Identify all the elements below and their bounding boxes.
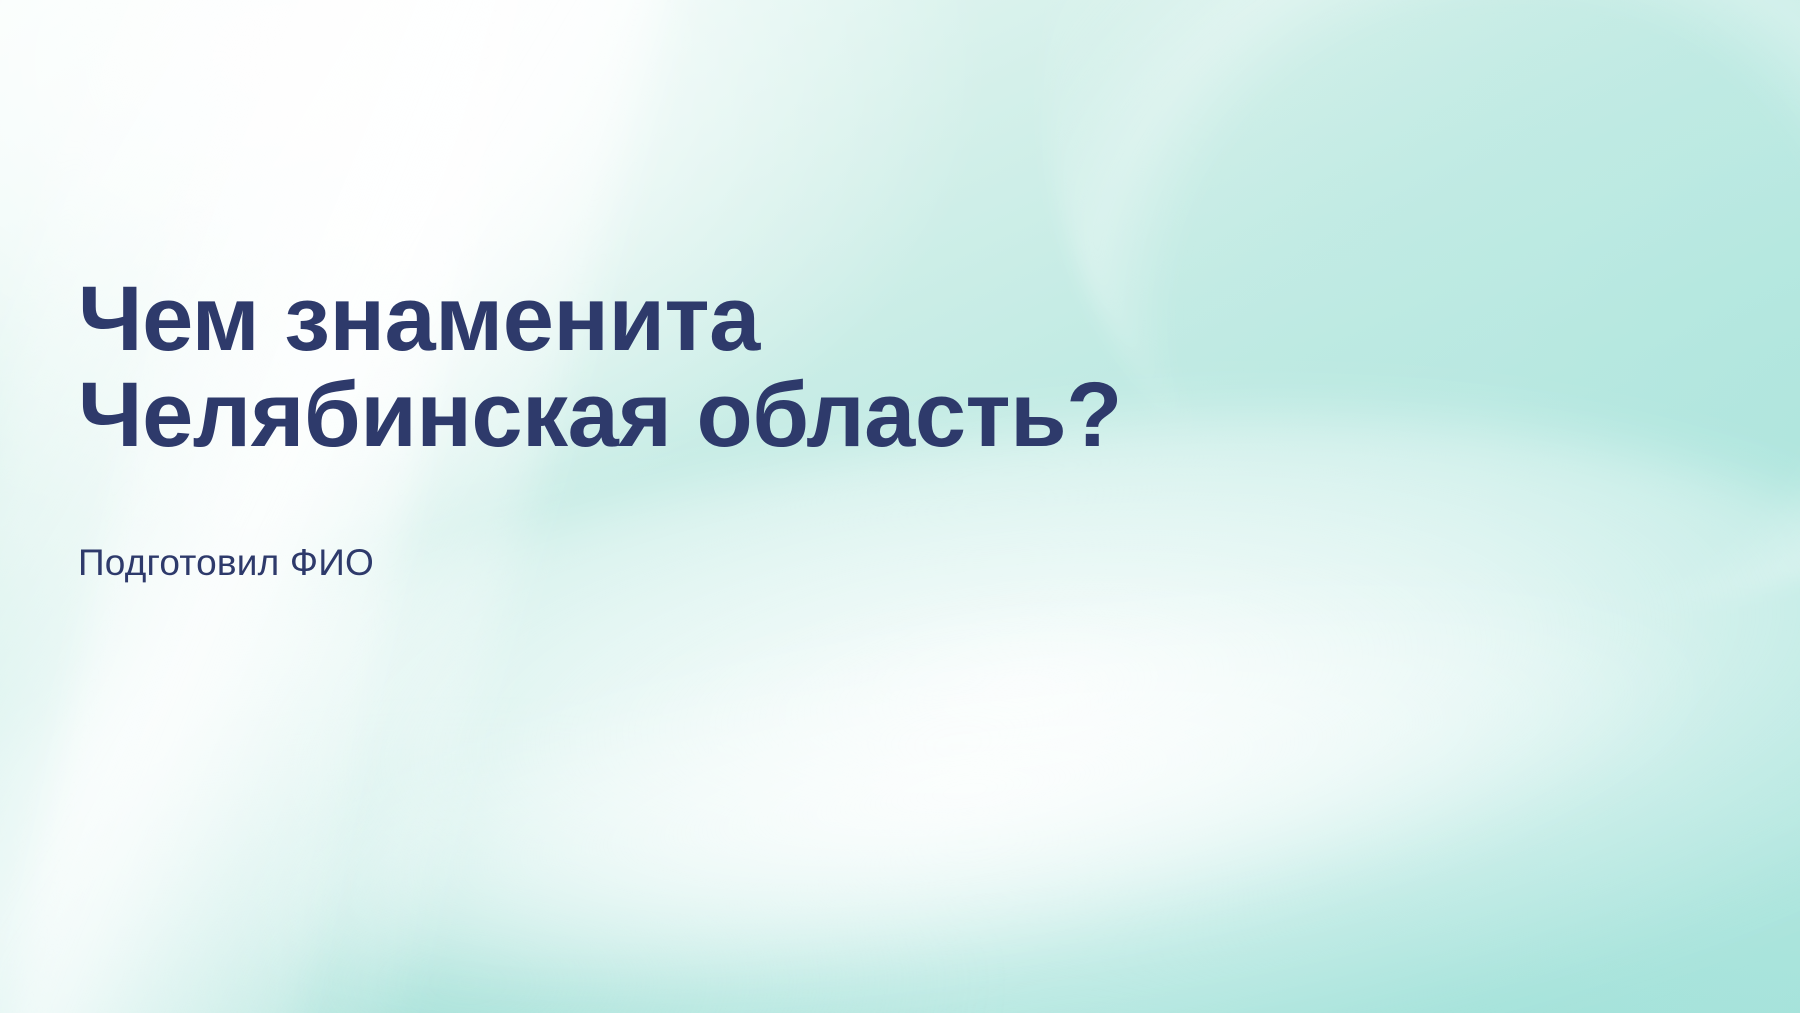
presentation-slide: Чем знаменита Челябинская область? Подго… [0, 0, 1800, 1013]
slide-subtitle: Подготовил ФИО [78, 463, 1498, 585]
slide-title: Чем знаменита Челябинская область? [78, 272, 1498, 463]
title-block: Чем знаменита Челябинская область? Подго… [78, 272, 1498, 586]
